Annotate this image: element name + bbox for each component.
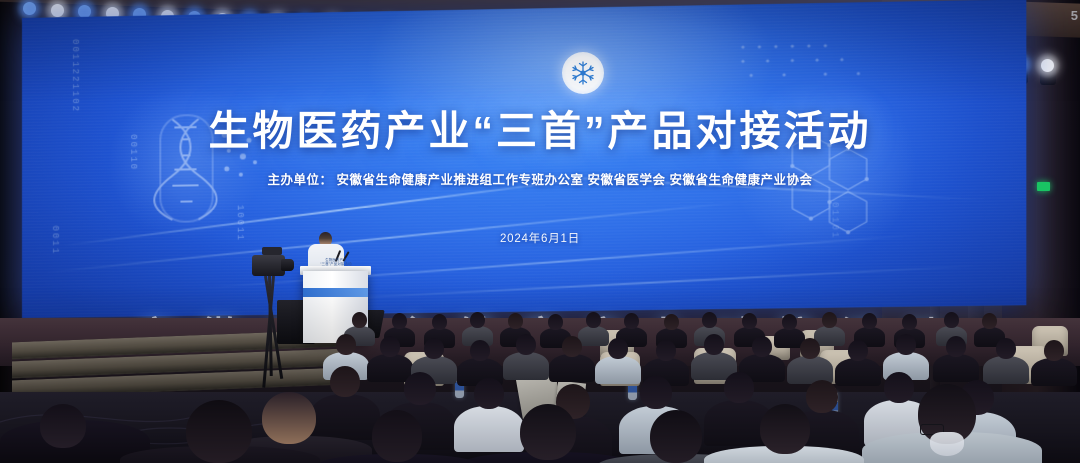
audience-head <box>896 334 916 355</box>
audience-head <box>352 312 367 328</box>
event-organizers: 主办单位： 安徽省生命健康产业推进组工作专班办公室 安徽省医学会 安徽省生命健康… <box>0 169 1080 188</box>
audience-head <box>470 312 485 328</box>
audience-head <box>392 313 407 329</box>
audience-head <box>1044 340 1064 361</box>
audience-head <box>724 372 754 403</box>
screen-vignette <box>22 0 1026 318</box>
event-logo <box>562 52 604 94</box>
event-title: 生物医药产业“三首”产品对接活动 <box>0 97 1080 157</box>
audience-head <box>562 336 582 357</box>
stage-lamp-white <box>51 4 64 17</box>
corner-mark: 5 <box>1071 8 1078 23</box>
audience-head <box>702 312 717 328</box>
podium-panel-text: 生物医药产业 “三首”产品对接活动 <box>307 258 365 267</box>
audience-head <box>330 366 360 397</box>
audience-head <box>944 312 959 328</box>
exit-sign <box>1037 182 1050 191</box>
audience-shoulders <box>503 352 549 380</box>
audience-head <box>372 410 422 462</box>
face-mask <box>930 432 964 456</box>
audience-head <box>822 312 837 328</box>
snowflake-molecule-icon <box>568 58 598 88</box>
audience-head <box>650 410 702 463</box>
audience-head <box>862 313 877 329</box>
audience-head <box>848 340 868 361</box>
audience-head <box>782 314 797 330</box>
audience-head <box>704 334 724 355</box>
audience-head <box>640 376 672 409</box>
audience-head <box>508 313 523 329</box>
audience-shoulders <box>578 326 609 346</box>
audience-head <box>40 404 86 448</box>
audience-head <box>432 314 447 330</box>
audience-shoulders <box>933 354 979 382</box>
audience-shoulders <box>983 356 1029 384</box>
audience-head <box>902 314 917 330</box>
audience-head <box>664 314 679 330</box>
stage-lamp-white <box>1041 59 1054 72</box>
audience-head <box>946 336 966 357</box>
audience-head <box>624 313 639 329</box>
audience-head <box>548 314 563 330</box>
audience-head <box>470 340 490 361</box>
audience-head <box>996 338 1016 359</box>
audience-head <box>336 334 356 355</box>
audience-head <box>424 338 444 359</box>
camera-hood <box>262 247 282 255</box>
audience-head <box>742 313 757 329</box>
audience-head <box>656 340 676 361</box>
audience-shoulders <box>595 356 641 384</box>
conference-photo-scene: 0011221102 00110 10011 0011 01101 生物医药产业… <box>0 0 1080 463</box>
audience-shoulders <box>835 358 881 386</box>
led-stage-screen: 0011221102 00110 10011 0011 01101 <box>22 0 1026 318</box>
audience-head <box>884 372 914 403</box>
audience-shoulders <box>454 406 524 452</box>
audience-head <box>516 334 536 355</box>
audience-head <box>186 400 252 463</box>
audience-shoulders <box>1031 358 1077 386</box>
audience-head <box>586 312 601 328</box>
audience-head <box>404 372 436 405</box>
audience-head <box>806 380 838 413</box>
audience-head <box>800 338 820 359</box>
audience-head <box>474 378 504 409</box>
audience-shoulders <box>549 354 595 382</box>
stage-lamp-blue <box>23 2 36 15</box>
audience-head <box>982 313 997 329</box>
audience-head <box>608 338 628 359</box>
podium-accent-band <box>303 288 368 297</box>
audience-shoulders <box>310 394 380 440</box>
audience-head <box>752 336 772 357</box>
event-date: 2024年6月1日 <box>0 230 1080 246</box>
audience-head <box>380 336 400 357</box>
podium-line-2: “三首”产品对接活动 <box>307 262 365 266</box>
audience-head <box>760 404 810 454</box>
audience-head <box>262 392 316 444</box>
audience-head <box>520 404 576 460</box>
camera-lens <box>281 259 294 271</box>
